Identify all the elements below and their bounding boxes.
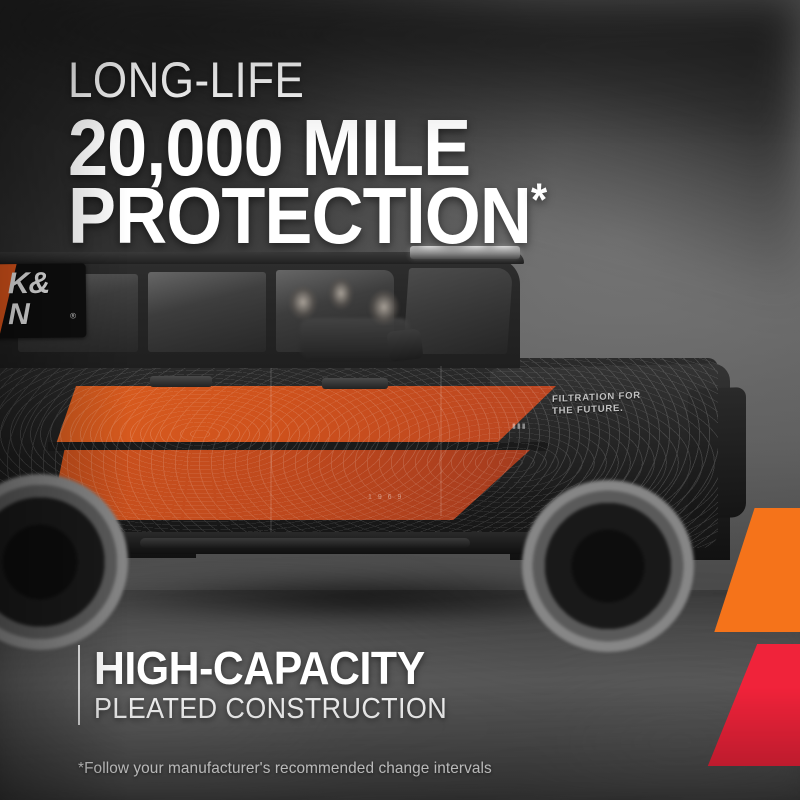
promo-banner: K& N ® FILTRATION FOR THE FUTURE. 1 9 6 … bbox=[0, 0, 800, 800]
vignette-overlay bbox=[0, 0, 800, 800]
